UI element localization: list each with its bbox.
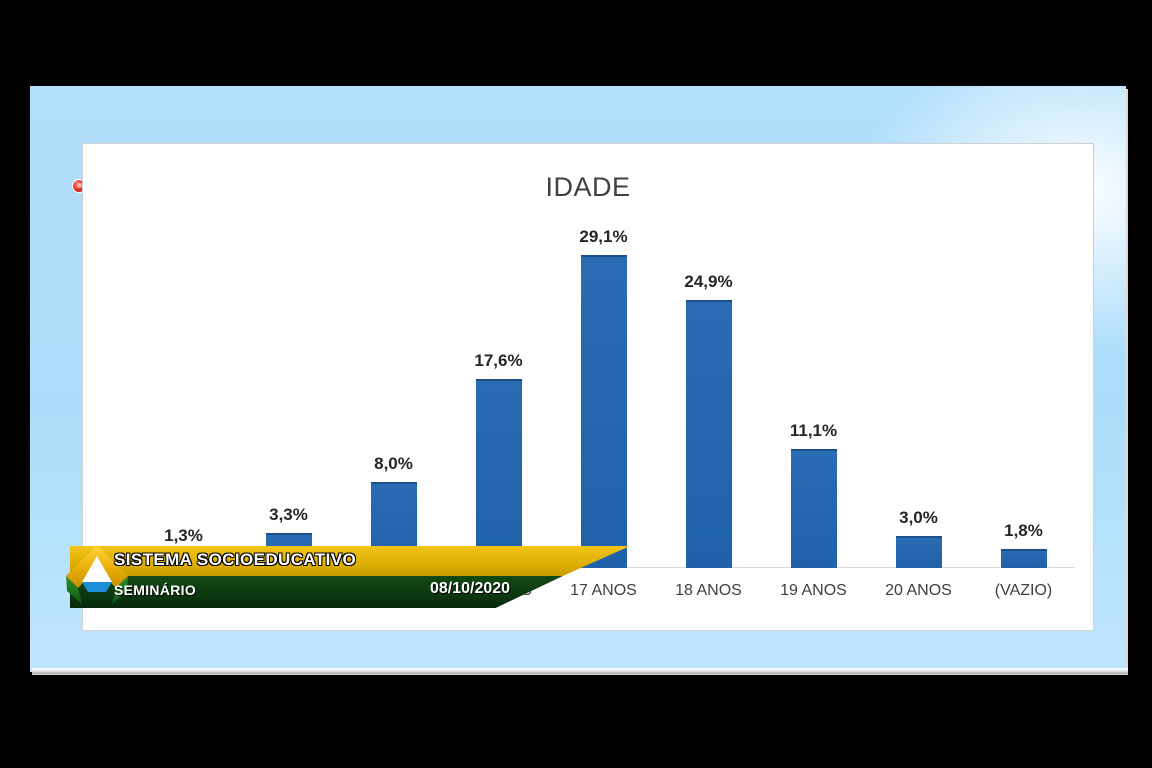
bar-value-label: 3,0% [866, 508, 971, 528]
bar-group: 8,0%15 ANOS [341, 224, 446, 568]
slide-bottom-edge [32, 668, 1128, 674]
bar [791, 449, 837, 568]
bar-value-label: 11,1% [761, 421, 866, 441]
bar [476, 379, 522, 568]
bar-value-label: 8,0% [341, 454, 446, 474]
bar [581, 255, 627, 568]
bar [1001, 549, 1047, 568]
bar-group: 1,8%(VAZIO) [971, 224, 1076, 568]
presentation-slide: Gravação Falando: Julianna Rufi YA AI [30, 86, 1126, 672]
x-axis-tick-label: (VAZIO) [971, 582, 1076, 600]
bar-value-label: 1,8% [971, 521, 1076, 541]
bar-value-label: 3,3% [236, 505, 341, 525]
video-stage: Gravação Falando: Julianna Rufi YA AI [0, 0, 1152, 768]
bar-value-label: 24,9% [656, 272, 761, 292]
banner-date: 08/10/2020 [430, 580, 510, 598]
bar-value-label: 17,6% [446, 351, 551, 371]
bar-group: 1,3%13 ANOS [131, 224, 236, 568]
x-axis-tick-label: 20 ANOS [866, 582, 971, 600]
bar-value-label: 1,3% [131, 526, 236, 546]
x-axis-tick-label: 19 ANOS [761, 582, 866, 600]
bar-group: 3,3%14 ANOS [236, 224, 341, 568]
lower-third-banner: SISTEMA SOCIOEDUCATIVO SEMINÁRIO 08/10/2… [30, 546, 670, 610]
bar [686, 300, 732, 568]
bar-group: 17,6%16 ANOS [446, 224, 551, 568]
bar-group: 3,0%20 ANOS [866, 224, 971, 568]
banner-title: SISTEMA SOCIOEDUCATIVO [114, 550, 356, 570]
bar-group: 29,1%17 ANOS [551, 224, 656, 568]
bar-group: 11,1%19 ANOS [761, 224, 866, 568]
bar [896, 536, 942, 568]
x-axis-tick-label: 18 ANOS [656, 582, 761, 600]
chart-title: IDADE [83, 172, 1093, 203]
banner-subtitle: SEMINÁRIO [114, 582, 196, 598]
bar-value-label: 29,1% [551, 227, 656, 247]
bar-group: 24,9%18 ANOS [656, 224, 761, 568]
chart-plot-area: 1,3%13 ANOS3,3%14 ANOS8,0%15 ANOS17,6%16… [131, 224, 1075, 568]
